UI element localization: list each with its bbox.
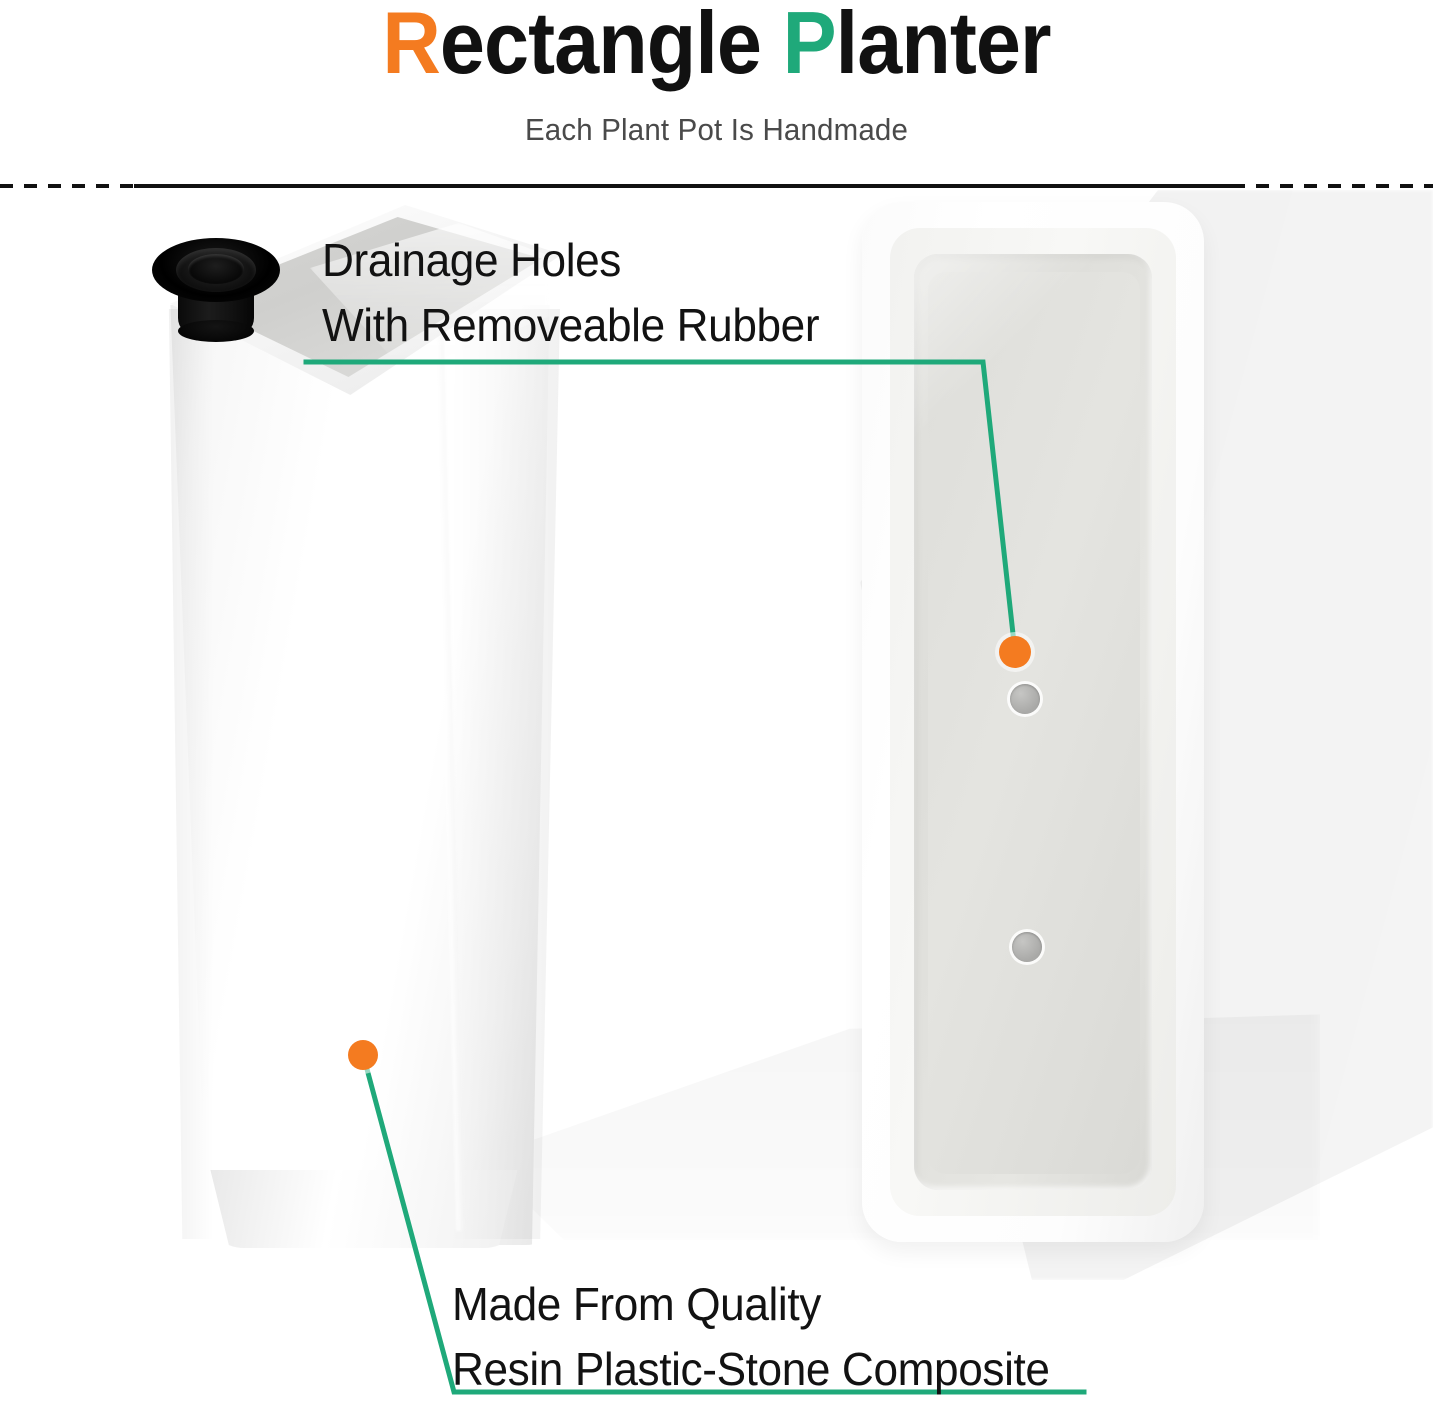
page-subtitle: Each Plant Pot Is Handmade — [36, 112, 1397, 148]
tall-planter-left-edge-shade — [166, 309, 214, 1239]
tall-planter-right-face-shade — [450, 309, 560, 1239]
callout-drainage-line2: With Removeable Rubber — [322, 293, 975, 358]
divider-solid — [134, 184, 1234, 188]
page-title: Rectangle Planter — [57, 0, 1375, 93]
section-divider — [0, 184, 1433, 189]
rubber-plug-icon — [152, 238, 280, 342]
divider-dash-right — [1232, 184, 1433, 188]
callout-drainage-line1: Drainage Holes — [322, 228, 975, 293]
flat-planter-bevel-highlight — [914, 254, 1152, 1190]
header: Rectangle Planter Each Plant Pot Is Hand… — [0, 0, 1433, 175]
title-space — [761, 0, 783, 92]
title-word-planter: lanter — [836, 0, 1051, 92]
callout-drainage-text: Drainage Holes With Removeable Rubber — [322, 228, 975, 359]
callout-drainage-marker-dot — [999, 636, 1031, 668]
plug-inner-ring — [188, 254, 244, 284]
tall-planter-image — [160, 205, 580, 1250]
title-initial-p: P — [783, 0, 836, 92]
drainage-hole-icon — [1010, 684, 1040, 714]
callout-quality-marker-dot — [348, 1040, 378, 1070]
title-word-rectangle: ectangle — [440, 0, 761, 92]
callout-quality-text: Made From Quality Resin Plastic-Stone Co… — [452, 1272, 1182, 1403]
plug-shaft-base — [178, 320, 254, 342]
callout-quality-line2: Resin Plastic-Stone Composite — [452, 1337, 1182, 1402]
divider-dash-left — [0, 184, 136, 188]
product-infographic: Rectangle Planter Each Plant Pot Is Hand… — [0, 0, 1433, 1403]
drainage-hole-icon — [1012, 932, 1042, 962]
callout-quality-line1: Made From Quality — [452, 1272, 1182, 1337]
title-initial-r: R — [382, 0, 440, 92]
